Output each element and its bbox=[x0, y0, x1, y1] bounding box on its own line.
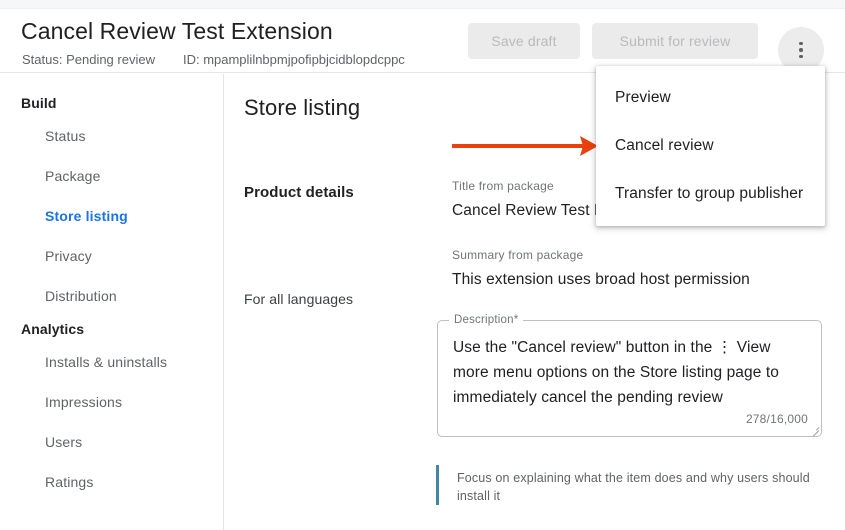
sidebar-section-title-build: Build bbox=[0, 90, 223, 116]
save-draft-button[interactable]: Save draft bbox=[468, 23, 580, 59]
extension-id-text: ID: mpamplilnbpmjpofipbjcidblopdcppc bbox=[183, 52, 405, 67]
helper-text: Focus on explaining what the item does a… bbox=[457, 465, 822, 505]
resize-handle-icon[interactable] bbox=[809, 424, 819, 434]
field-label: Summary from package bbox=[452, 247, 844, 263]
kebab-dot-icon bbox=[799, 55, 803, 59]
kebab-dot-icon bbox=[799, 42, 803, 46]
submit-for-review-button[interactable]: Submit for review bbox=[592, 23, 758, 59]
menu-item-cancel-review[interactable]: Cancel review bbox=[596, 122, 825, 170]
sidebar-nav: Build Status Package Store listing Priva… bbox=[0, 74, 224, 530]
sidebar-item-privacy[interactable]: Privacy bbox=[0, 236, 223, 276]
sidebar-section-title-analytics: Analytics bbox=[0, 316, 223, 342]
menu-item-transfer-to-group-publisher[interactable]: Transfer to group publisher bbox=[596, 170, 825, 218]
menu-item-preview[interactable]: Preview bbox=[596, 74, 825, 122]
sidebar-item-users[interactable]: Users bbox=[0, 422, 223, 462]
sidebar-item-distribution[interactable]: Distribution bbox=[0, 276, 223, 316]
status-text: Status: Pending review bbox=[22, 52, 155, 67]
description-char-count: 278/16,000 bbox=[746, 412, 808, 426]
extension-title: Cancel Review Test Extension bbox=[21, 17, 333, 45]
product-details-heading: Product details bbox=[244, 184, 354, 201]
sidebar-item-status[interactable]: Status bbox=[0, 116, 223, 156]
field-summary-from-package: Summary from package This extension uses… bbox=[452, 247, 844, 291]
sidebar-item-ratings[interactable]: Ratings bbox=[0, 462, 223, 502]
sidebar-item-impressions[interactable]: Impressions bbox=[0, 382, 223, 422]
view-more-dropdown-menu: Preview Cancel review Transfer to group … bbox=[596, 66, 825, 226]
page-header: Cancel Review Test Extension Status: Pen… bbox=[0, 9, 845, 73]
sidebar-item-installs-uninstalls[interactable]: Installs & uninstalls bbox=[0, 342, 223, 382]
extension-developer-dashboard: Cancel Review Test Extension Status: Pen… bbox=[0, 0, 845, 530]
top-scroll-strip bbox=[0, 0, 845, 9]
description-label: Description* bbox=[449, 313, 523, 327]
product-details-subheading: For all languages bbox=[244, 291, 353, 307]
extension-meta: Status: Pending reviewID: mpamplilnbpmjp… bbox=[22, 51, 405, 68]
field-value: This extension uses broad host permissio… bbox=[452, 269, 844, 291]
sidebar-item-package[interactable]: Package bbox=[0, 156, 223, 196]
page-title: Store listing bbox=[244, 94, 360, 122]
sidebar-item-store-listing[interactable]: Store listing bbox=[0, 196, 223, 236]
description-value[interactable]: Use the "Cancel review" button in the ⋮ … bbox=[453, 335, 801, 410]
description-helper-callout: Focus on explaining what the item does a… bbox=[436, 465, 822, 505]
description-textarea[interactable]: Description* Use the "Cancel review" but… bbox=[437, 320, 822, 437]
kebab-dot-icon bbox=[799, 48, 803, 52]
